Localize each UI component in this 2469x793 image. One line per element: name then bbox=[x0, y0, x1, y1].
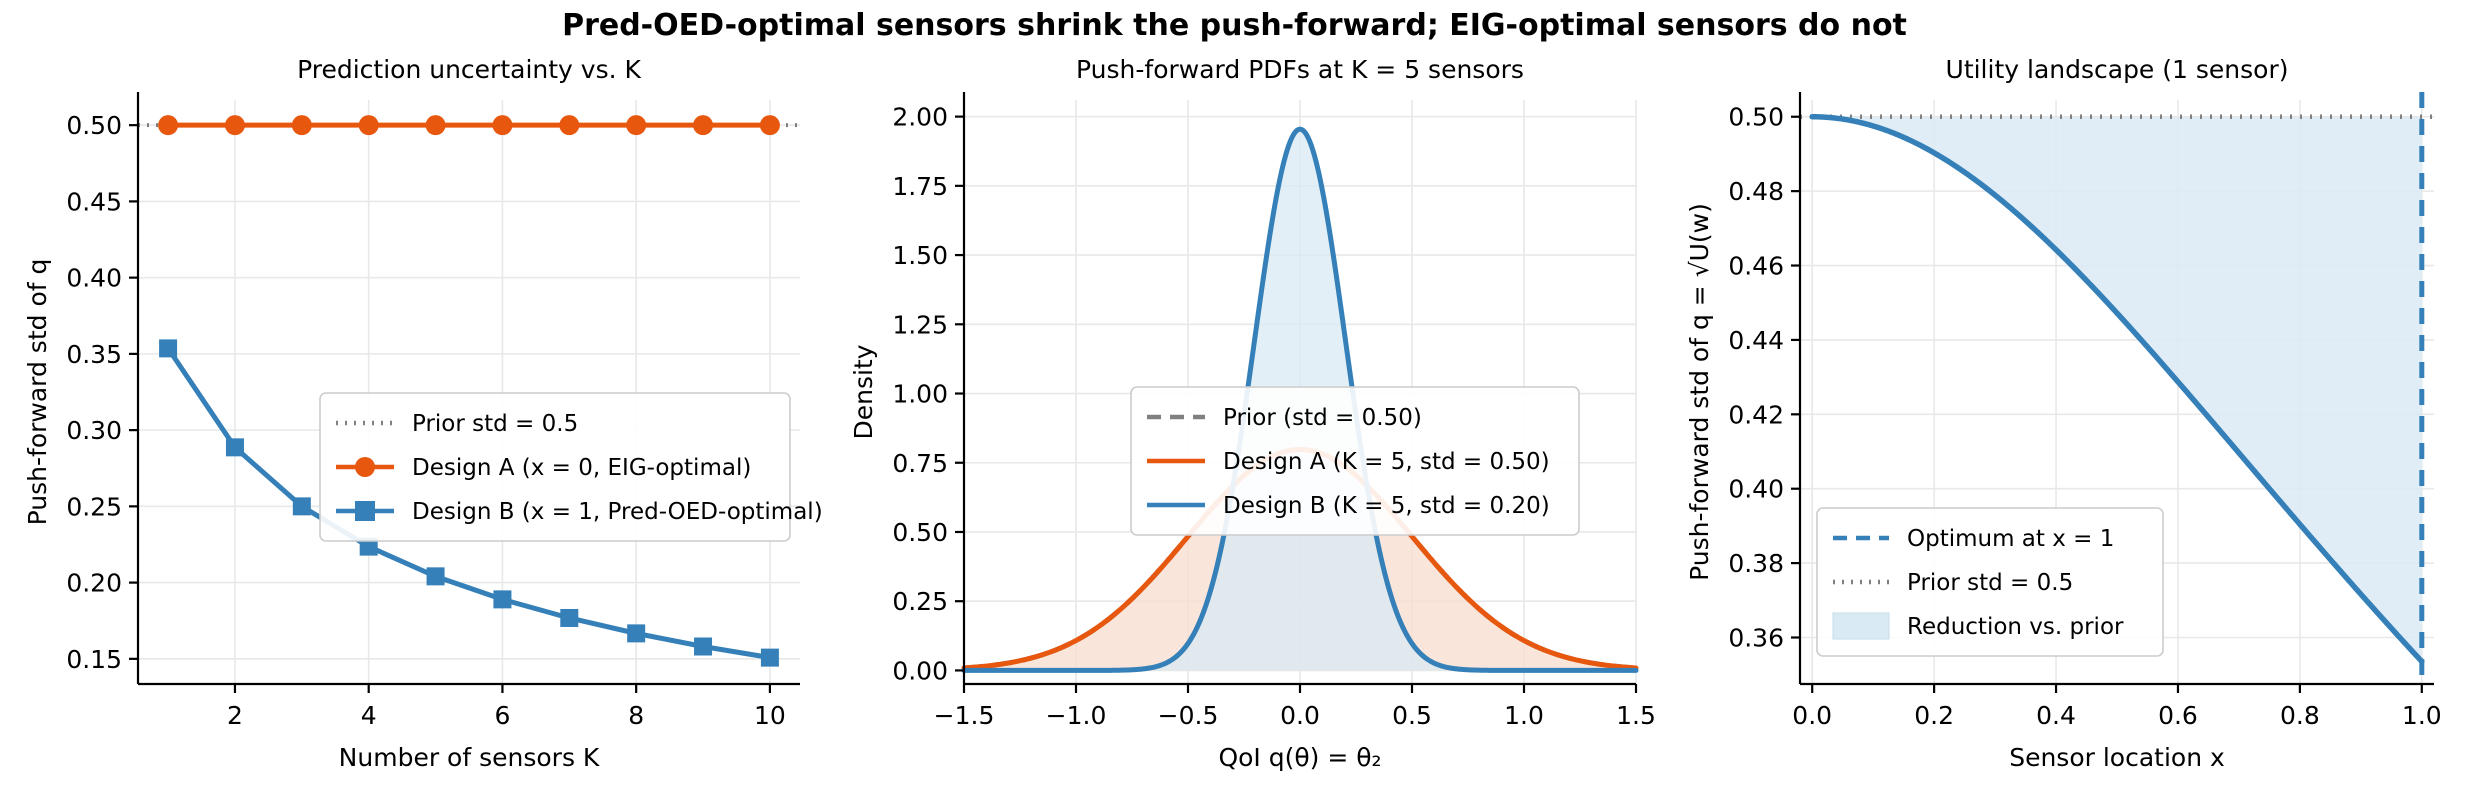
x-tick-label: 10 bbox=[754, 701, 786, 730]
series-marker bbox=[159, 339, 177, 357]
y-tick-label: 0.25 bbox=[66, 492, 122, 521]
x-axis-label: QoI q(θ) = θ₂ bbox=[1218, 743, 1381, 772]
y-tick-label: 0.36 bbox=[1728, 624, 1784, 653]
panel-1-svg: Prediction uncertainty vs. K2468100.150.… bbox=[0, 48, 836, 793]
x-tick-label: 0.6 bbox=[2158, 701, 2198, 730]
y-tick-label: 0.75 bbox=[892, 449, 948, 478]
gridlines bbox=[138, 100, 800, 684]
x-axis-label: Sensor location x bbox=[2009, 743, 2225, 772]
y-axis-label: Push-forward std of q bbox=[23, 259, 52, 526]
y-tick-label: 0.48 bbox=[1728, 177, 1784, 206]
x-tick-label: 1.5 bbox=[1616, 701, 1656, 730]
legend-entry-label: Design A (K = 5, std = 0.50) bbox=[1223, 449, 1550, 475]
legend-entry-label: Optimum at x = 1 bbox=[1907, 526, 2114, 552]
legend-entry-label: Prior (std = 0.50) bbox=[1223, 405, 1422, 431]
series-marker bbox=[492, 115, 512, 135]
panel-title: Push-forward PDFs at K = 5 sensors bbox=[1076, 55, 1524, 84]
x-tick-label: −1.0 bbox=[1046, 701, 1107, 730]
y-axis-label: Density bbox=[849, 344, 878, 439]
legend-entry-label: Prior std = 0.5 bbox=[412, 411, 578, 437]
y-tick-label: 0.44 bbox=[1728, 326, 1784, 355]
y-tick-label: 0.35 bbox=[66, 340, 122, 369]
series-marker bbox=[693, 115, 713, 135]
x-tick-label: 0.5 bbox=[1392, 701, 1432, 730]
legend-swatch-marker bbox=[355, 501, 375, 521]
y-tick-label: 0.42 bbox=[1728, 400, 1784, 429]
panel-2-svg: Push-forward PDFs at K = 5 sensors−1.5−1… bbox=[836, 48, 1672, 793]
y-tick-label: 1.75 bbox=[892, 172, 948, 201]
y-tick-label: 0.20 bbox=[66, 569, 122, 598]
series-marker bbox=[292, 115, 312, 135]
y-tick-label: 1.50 bbox=[892, 241, 948, 270]
y-tick-label: 0.50 bbox=[892, 518, 948, 547]
y-tick-label: 0.46 bbox=[1728, 252, 1784, 281]
x-tick-label: 4 bbox=[361, 701, 377, 730]
x-tick-label: 6 bbox=[494, 701, 510, 730]
x-tick-label: −0.5 bbox=[1158, 701, 1219, 730]
series-marker bbox=[158, 115, 178, 135]
y-tick-label: 1.00 bbox=[892, 380, 948, 409]
series-marker bbox=[694, 637, 712, 655]
legend: Optimum at x = 1Prior std = 0.5Reduction… bbox=[1817, 508, 2163, 656]
y-tick-label: 2.00 bbox=[892, 103, 948, 132]
x-tick-label: 0.2 bbox=[1914, 701, 1954, 730]
panel-prediction-uncertainty: Prediction uncertainty vs. K2468100.150.… bbox=[0, 48, 836, 793]
legend-entry-label: Design B (x = 1, Pred-OED-optimal) bbox=[412, 499, 823, 525]
x-tick-label: 1.0 bbox=[1504, 701, 1544, 730]
series-marker bbox=[760, 115, 780, 135]
panel-utility-landscape: Utility landscape (1 sensor)0.00.20.40.6… bbox=[1672, 48, 2469, 793]
series-marker bbox=[761, 649, 779, 667]
y-tick-label: 0.25 bbox=[892, 587, 948, 616]
series-marker bbox=[293, 497, 311, 515]
y-tick-label: 0.30 bbox=[66, 416, 122, 445]
series-marker bbox=[225, 115, 245, 135]
legend: Prior std = 0.5Design A (x = 0, EIG-opti… bbox=[320, 393, 823, 541]
y-axis-label: Push-forward std of q = √U(w) bbox=[1685, 203, 1714, 581]
legend-entry: Reduction vs. prior bbox=[1833, 613, 2124, 640]
figure-canvas: Pred-OED-optimal sensors shrink the push… bbox=[0, 0, 2469, 793]
y-tick-label: 0.50 bbox=[66, 111, 122, 140]
series-marker bbox=[560, 609, 578, 627]
panel-3-svg: Utility landscape (1 sensor)0.00.20.40.6… bbox=[1672, 48, 2469, 793]
legend-entry-label: Design A (x = 0, EIG-optimal) bbox=[412, 455, 751, 481]
x-tick-label: 0.8 bbox=[2280, 701, 2320, 730]
y-tick-label: 0.40 bbox=[1728, 475, 1784, 504]
x-tick-label: 1.0 bbox=[2402, 701, 2442, 730]
x-tick-label: 0.0 bbox=[1792, 701, 1832, 730]
x-tick-label: 0.0 bbox=[1280, 701, 1320, 730]
y-tick-label: 0.45 bbox=[66, 187, 122, 216]
y-tick-label: 0.15 bbox=[66, 645, 122, 674]
y-tick-label: 0.00 bbox=[892, 656, 948, 685]
series-marker bbox=[493, 590, 511, 608]
panel-title: Utility landscape (1 sensor) bbox=[1946, 55, 2289, 84]
y-tick-label: 0.50 bbox=[1728, 103, 1784, 132]
legend-swatch-marker bbox=[355, 457, 375, 477]
panel-title: Prediction uncertainty vs. K bbox=[297, 55, 641, 84]
series-marker bbox=[559, 115, 579, 135]
series-marker bbox=[359, 115, 379, 135]
legend-entry-label: Design B (K = 5, std = 0.20) bbox=[1223, 493, 1550, 519]
legend: Prior (std = 0.50)Design A (K = 5, std =… bbox=[1131, 387, 1579, 535]
figure-suptitle: Pred-OED-optimal sensors shrink the push… bbox=[0, 8, 2469, 43]
series-marker bbox=[427, 567, 445, 585]
y-tick-label: 1.25 bbox=[892, 310, 948, 339]
legend-swatch-patch bbox=[1833, 613, 1889, 639]
legend-entry-label: Prior std = 0.5 bbox=[1907, 570, 2073, 596]
series-marker bbox=[626, 115, 646, 135]
legend-entry-label: Reduction vs. prior bbox=[1907, 614, 2124, 640]
y-tick-label: 0.40 bbox=[66, 264, 122, 293]
series-marker bbox=[426, 115, 446, 135]
x-axis-label: Number of sensors K bbox=[339, 743, 600, 772]
series-marker bbox=[226, 438, 244, 456]
x-tick-label: 0.4 bbox=[2036, 701, 2076, 730]
y-tick-label: 0.38 bbox=[1728, 549, 1784, 578]
series-marker bbox=[627, 624, 645, 642]
x-tick-label: 2 bbox=[227, 701, 243, 730]
x-tick-label: 8 bbox=[628, 701, 644, 730]
panel-pushforward-pdfs: Push-forward PDFs at K = 5 sensors−1.5−1… bbox=[836, 48, 1672, 793]
x-tick-label: −1.5 bbox=[934, 701, 995, 730]
